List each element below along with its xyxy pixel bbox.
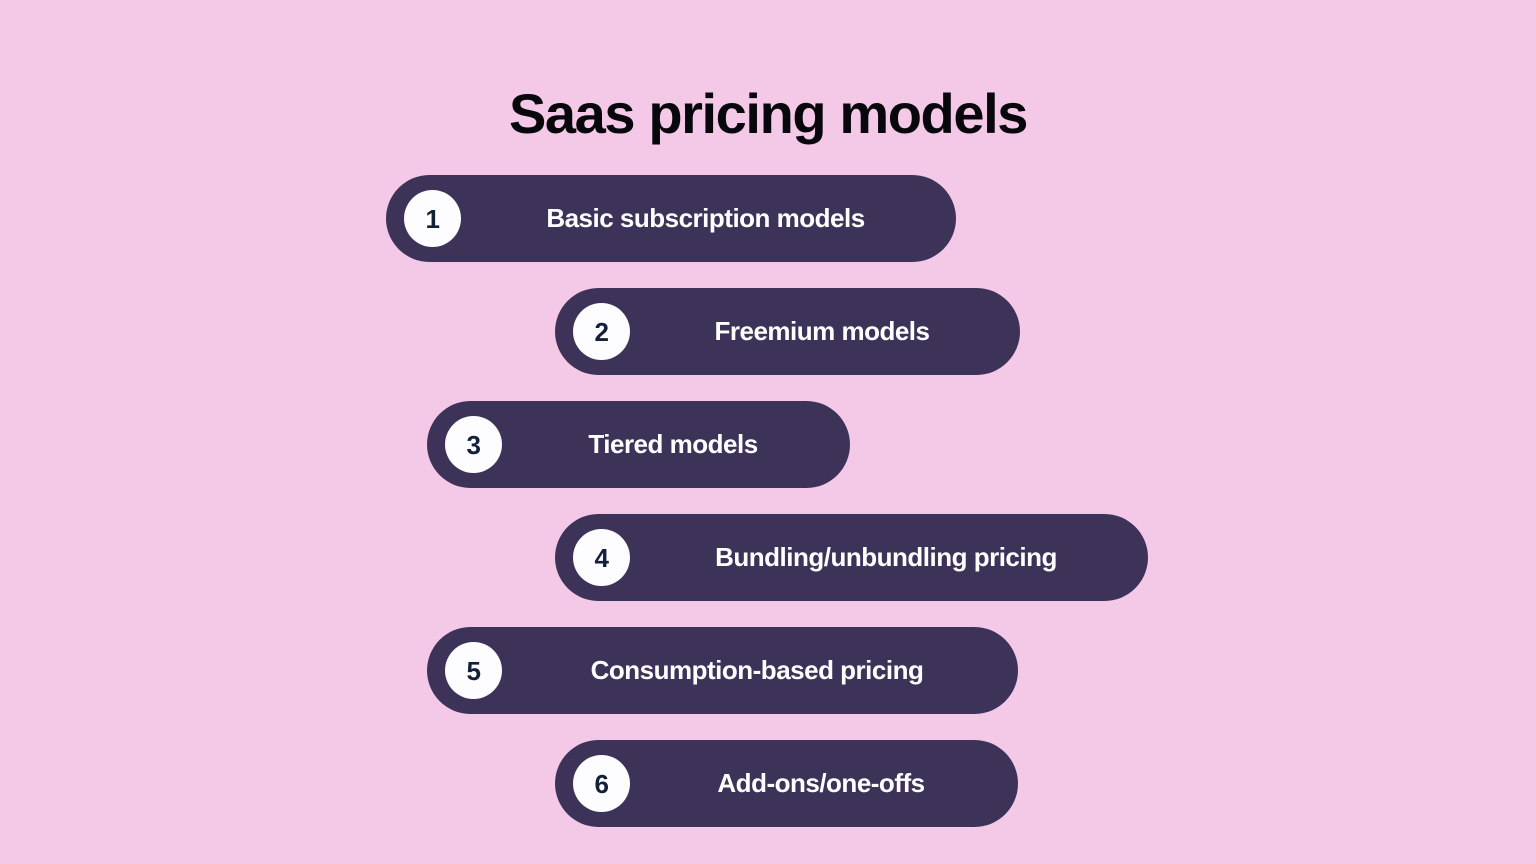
list-item[interactable]: 1 Basic subscription models	[386, 175, 956, 262]
list-item-number-badge: 1	[404, 190, 461, 247]
page-title: Saas pricing models	[0, 82, 1536, 146]
list-item-label: Freemium models	[630, 288, 1020, 375]
list-item-number-badge: 2	[573, 303, 630, 360]
list-item-number-badge: 6	[573, 755, 630, 812]
list-item-label: Tiered models	[502, 401, 850, 488]
list-item-number-badge: 5	[445, 642, 502, 699]
list-item[interactable]: 4 Bundling/unbundling pricing	[555, 514, 1148, 601]
list-item[interactable]: 3 Tiered models	[427, 401, 850, 488]
list-item-number-badge: 4	[573, 529, 630, 586]
infographic-canvas: Saas pricing models 1 Basic subscription…	[0, 0, 1536, 864]
list-item-label: Bundling/unbundling pricing	[630, 514, 1148, 601]
list-item-label: Consumption-based pricing	[502, 627, 1018, 714]
list-item-label: Add-ons/one-offs	[630, 740, 1018, 827]
pricing-model-list: 1 Basic subscription models 2 Freemium m…	[0, 175, 1536, 835]
list-item[interactable]: 5 Consumption-based pricing	[427, 627, 1018, 714]
list-item[interactable]: 2 Freemium models	[555, 288, 1020, 375]
list-item-label: Basic subscription models	[461, 175, 956, 262]
list-item[interactable]: 6 Add-ons/one-offs	[555, 740, 1018, 827]
list-item-number-badge: 3	[445, 416, 502, 473]
